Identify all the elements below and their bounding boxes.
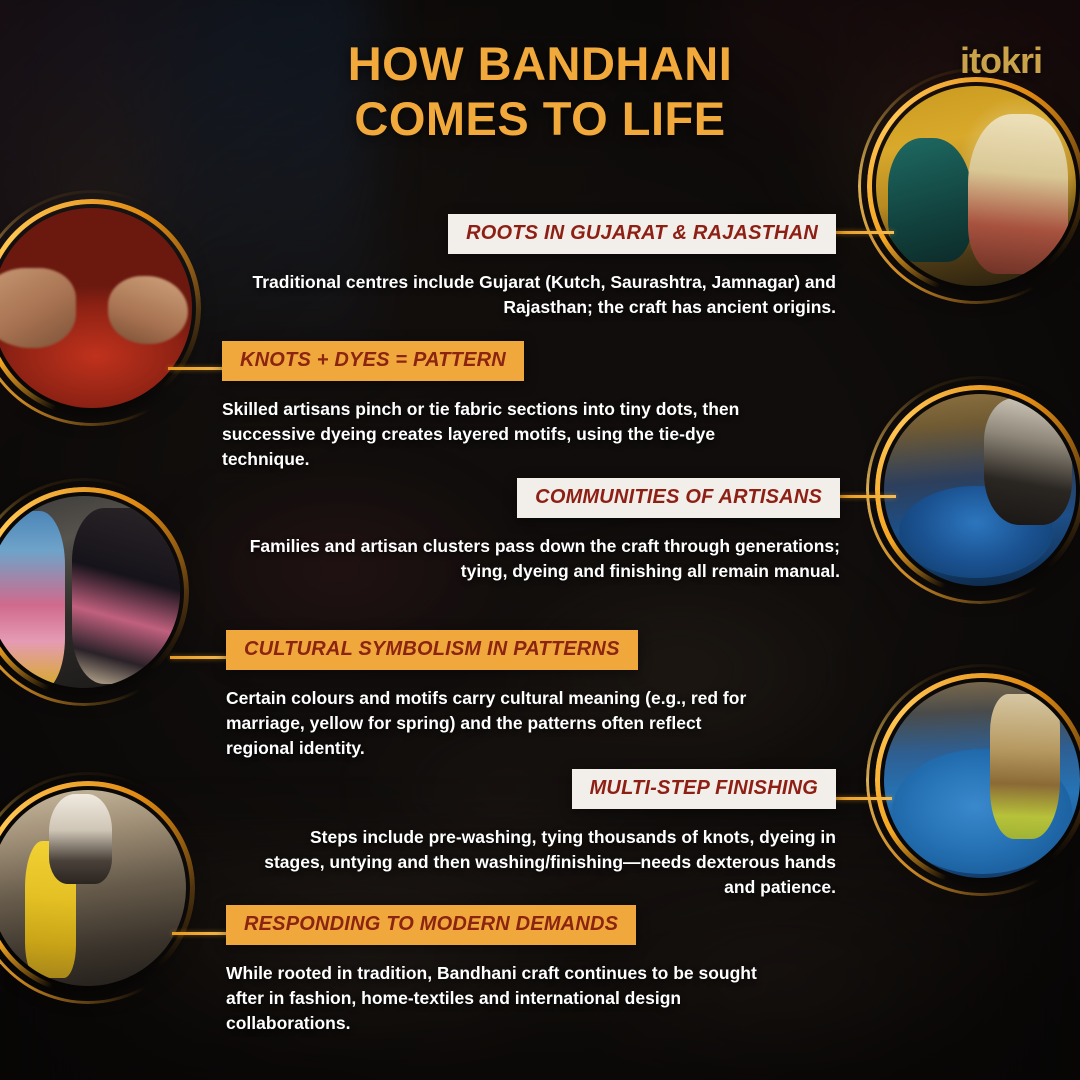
photo-ring-secondary [0,190,210,426]
photo-circle-women-fabric [0,496,180,688]
connector-line-section-6 [172,932,230,935]
photo-circle-hands-tying [0,208,192,408]
section-3-heading-row: COMMUNITIES OF ARTISANS [216,478,840,518]
section-4-body: Certain colours and motifs carry cultura… [226,686,771,761]
title-line-1: HOW BANDHANI [348,37,733,90]
section-5-heading: MULTI-STEP FINISHING [572,769,836,809]
photo-ring-secondary [0,772,204,1004]
section-2-body: Skilled artisans pinch or tie fabric sec… [222,397,757,472]
section-communities-of-artisans: COMMUNITIES OF ARTISANS Families and art… [216,478,840,584]
section-3-heading: COMMUNITIES OF ARTISANS [517,478,840,518]
section-roots-in-gujarat-rajasthan: ROOTS IN GUJARAT & RAJASTHAN Traditional… [214,214,836,320]
section-3-body: Families and artisan clusters pass down … [220,534,840,584]
section-knots-dyes-pattern: KNOTS + DYES = PATTERN Skilled artisans … [222,341,842,472]
photo-circle-women-yellow-wall [876,86,1076,286]
connector-line-section-2 [168,367,226,370]
section-6-heading-row: RESPONDING TO MODERN DEMANDS [226,905,844,945]
section-2-heading: KNOTS + DYES = PATTERN [222,341,524,381]
photo-circle-dyeing-blue-tub [884,394,1076,586]
section-6-body: While rooted in tradition, Bandhani craf… [226,961,786,1036]
photo-ring-secondary [866,376,1080,604]
photo-circle-yellow-fabric-lift [0,790,186,986]
section-6-heading: RESPONDING TO MODERN DEMANDS [226,905,636,945]
section-5-body: Steps include pre-washing, tying thousan… [256,825,836,900]
connector-line-section-5 [830,797,892,800]
connector-line-section-4 [170,656,228,659]
section-1-heading: ROOTS IN GUJARAT & RAJASTHAN [448,214,836,254]
section-5-heading-row: MULTI-STEP FINISHING [212,769,836,809]
section-multi-step-finishing: MULTI-STEP FINISHING Steps include pre-w… [212,769,836,900]
infographic-poster: HOW BANDHANI COMES TO LIFE itokri [0,0,1080,1080]
photo-circle-dye-vat [884,682,1080,878]
connector-line-section-3 [838,495,896,498]
connector-line-section-1 [834,231,894,234]
photo-ring-secondary [858,68,1080,304]
section-responding-to-modern-demands: RESPONDING TO MODERN DEMANDS While roote… [226,905,844,1036]
section-4-heading: CULTURAL SYMBOLISM IN PATTERNS [226,630,638,670]
section-2-heading-row: KNOTS + DYES = PATTERN [222,341,842,381]
section-cultural-symbolism-in-patterns: CULTURAL SYMBOLISM IN PATTERNS Certain c… [226,630,844,761]
photo-ring-secondary [866,664,1080,896]
section-4-heading-row: CULTURAL SYMBOLISM IN PATTERNS [226,630,844,670]
section-1-body: Traditional centres include Gujarat (Kut… [216,270,836,320]
section-1-heading-row: ROOTS IN GUJARAT & RAJASTHAN [214,214,836,254]
